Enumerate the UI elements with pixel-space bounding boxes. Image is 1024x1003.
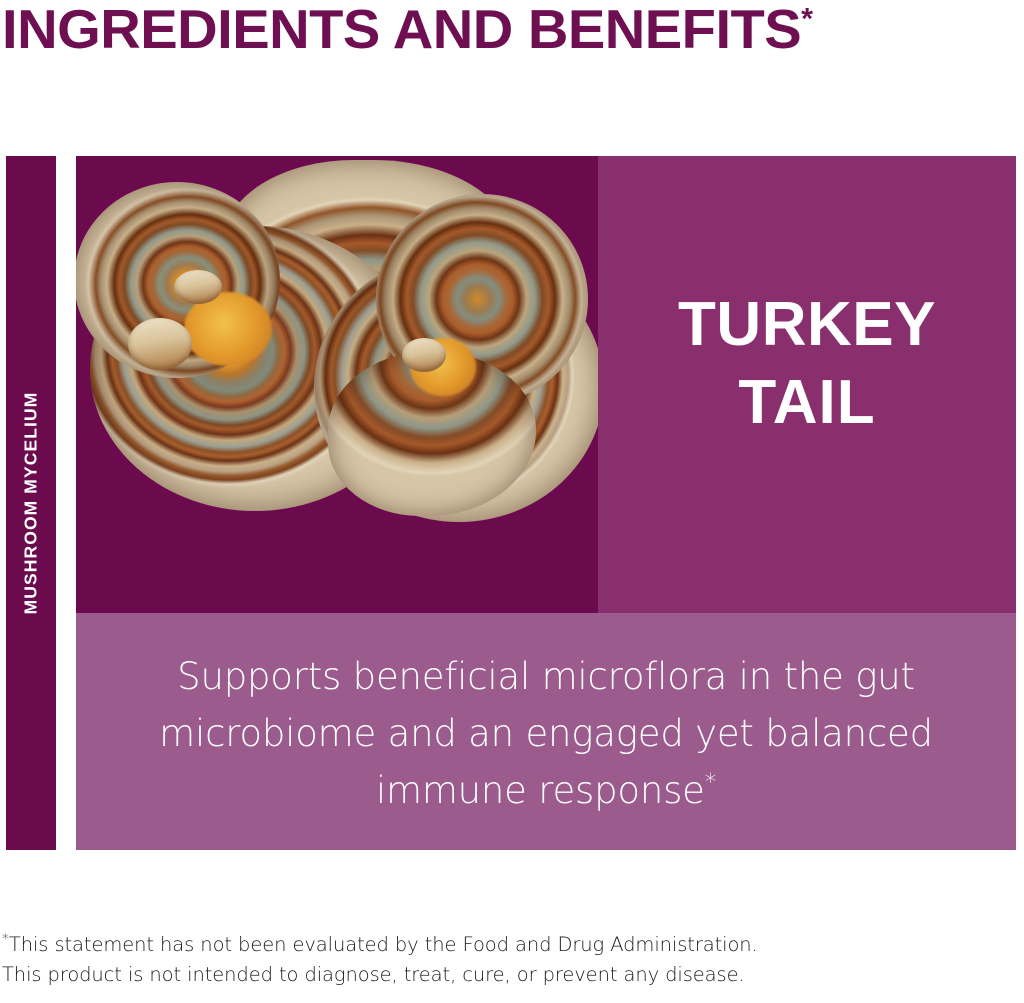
ingredient-photo-panel <box>76 156 598 613</box>
category-bar: MUSHROOM MYCELIUM <box>6 156 56 850</box>
ingredient-name-line2: TAIL <box>598 364 1016 442</box>
ingredient-card: TURKEY TAIL Supports beneficial microflo… <box>76 156 1016 850</box>
disclaimer-line-1: *This statement has not been evaluated b… <box>2 930 1012 960</box>
disclaimer-line-1-text: This statement has not been evaluated by… <box>9 933 758 956</box>
benefit-claim-panel: Supports beneficial microflora in the gu… <box>76 613 1016 850</box>
page-title-text: INGREDIENTS AND BENEFITS <box>2 0 801 60</box>
benefit-claim-text: Supports beneficial microflora in the gu… <box>159 655 933 812</box>
benefit-claim-asterisk: * <box>705 770 716 796</box>
category-label: MUSHROOM MYCELIUM <box>21 392 42 615</box>
page-title-asterisk: * <box>801 3 812 36</box>
ingredient-name: TURKEY TAIL <box>598 286 1016 442</box>
mushroom-shelf-a <box>128 318 192 370</box>
ingredient-name-panel: TURKEY TAIL <box>598 156 1016 613</box>
fda-disclaimer: *This statement has not been evaluated b… <box>2 930 1012 990</box>
disclaimer-asterisk: * <box>2 932 9 948</box>
benefit-claim: Supports beneficial microflora in the gu… <box>116 648 976 819</box>
page-title: INGREDIENTS AND BENEFITS* <box>2 0 1024 62</box>
ingredient-name-line1: TURKEY <box>598 286 1016 364</box>
mushroom-shelf-c <box>402 338 446 372</box>
mushroom-shelf-b <box>174 270 222 304</box>
disclaimer-line-2: This product is not intended to diagnose… <box>2 960 1012 990</box>
